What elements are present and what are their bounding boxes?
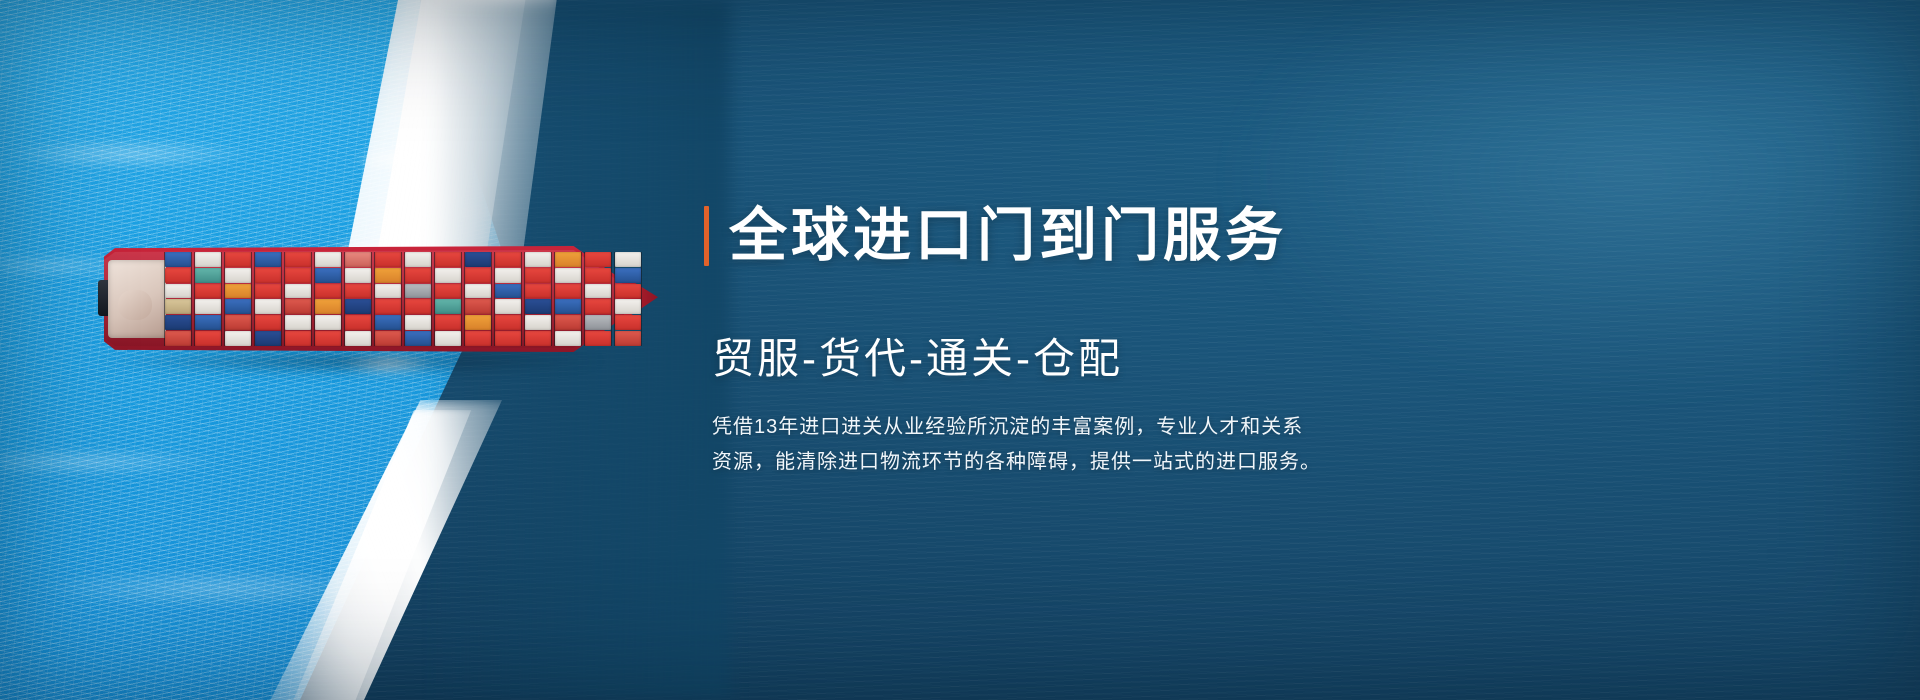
container-bay	[254, 252, 282, 346]
container	[525, 299, 551, 314]
ship-bridge-deck	[118, 290, 152, 320]
page-title: 全球进口门到门服务	[729, 207, 1287, 265]
container	[195, 299, 221, 314]
container	[495, 331, 521, 346]
container	[255, 331, 281, 346]
container	[285, 252, 311, 267]
container	[495, 268, 521, 283]
container-bay	[374, 252, 402, 346]
container-ship	[104, 246, 650, 352]
container	[375, 252, 401, 267]
container	[615, 299, 641, 314]
container	[225, 252, 251, 267]
container	[165, 315, 191, 330]
container	[315, 331, 341, 346]
container	[375, 315, 401, 330]
container	[315, 299, 341, 314]
container	[405, 284, 431, 299]
container	[255, 252, 281, 267]
container	[315, 252, 341, 267]
container	[405, 252, 431, 267]
container-stacks	[164, 252, 642, 346]
container	[225, 315, 251, 330]
container	[495, 284, 521, 299]
container	[465, 331, 491, 346]
container-bay	[344, 252, 372, 346]
container	[225, 268, 251, 283]
container-bay	[554, 252, 582, 346]
container-bay	[464, 252, 492, 346]
container	[555, 331, 581, 346]
accent-bar	[704, 206, 709, 266]
container	[465, 252, 491, 267]
container	[435, 331, 461, 346]
container	[225, 331, 251, 346]
hero-copy: 全球进口门到门服务 贸服-货代-通关-仓配 凭借13年进口进关从业经验所沉淀的丰…	[704, 168, 1444, 500]
container	[555, 299, 581, 314]
container	[405, 331, 431, 346]
container-bay	[614, 252, 642, 346]
container	[165, 284, 191, 299]
container	[615, 284, 641, 299]
container	[165, 331, 191, 346]
description: 凭借13年进口进关从业经验所沉淀的丰富案例，专业人才和关系 资源，能清除进口物流…	[712, 410, 1412, 480]
container	[285, 299, 311, 314]
container	[165, 268, 191, 283]
container	[195, 252, 221, 267]
container	[555, 252, 581, 267]
description-line-2: 资源，能清除进口物流环节的各种障碍，提供一站式的进口服务。	[712, 445, 1412, 480]
container-bay	[434, 252, 462, 346]
container	[585, 331, 611, 346]
container	[435, 315, 461, 330]
container	[345, 299, 371, 314]
container	[165, 299, 191, 314]
container	[345, 284, 371, 299]
container	[285, 268, 311, 283]
container	[225, 299, 251, 314]
container	[285, 284, 311, 299]
container	[195, 268, 221, 283]
container	[615, 268, 641, 283]
container	[525, 331, 551, 346]
container	[345, 268, 371, 283]
container	[405, 315, 431, 330]
container	[585, 252, 611, 267]
container	[195, 315, 221, 330]
container	[345, 252, 371, 267]
container	[255, 268, 281, 283]
container-bay	[404, 252, 432, 346]
container	[495, 315, 521, 330]
container-bay	[224, 252, 252, 346]
container	[255, 299, 281, 314]
container	[525, 315, 551, 330]
container	[525, 252, 551, 267]
container	[435, 284, 461, 299]
container-bay	[524, 252, 552, 346]
container	[615, 315, 641, 330]
container	[315, 268, 341, 283]
container	[555, 315, 581, 330]
container	[615, 252, 641, 267]
container	[225, 284, 251, 299]
container	[585, 268, 611, 283]
ship-bridge-superstructure	[108, 260, 166, 338]
container	[465, 299, 491, 314]
container	[525, 284, 551, 299]
container	[375, 284, 401, 299]
container	[405, 299, 431, 314]
container	[525, 268, 551, 283]
container-bay	[284, 252, 312, 346]
container-bay	[494, 252, 522, 346]
container	[255, 284, 281, 299]
container	[165, 252, 191, 267]
container	[555, 284, 581, 299]
container	[555, 268, 581, 283]
container	[465, 268, 491, 283]
container	[435, 268, 461, 283]
container	[285, 331, 311, 346]
container	[405, 268, 431, 283]
container	[255, 315, 281, 330]
container-bay	[584, 252, 612, 346]
container	[585, 315, 611, 330]
container	[585, 299, 611, 314]
container	[195, 284, 221, 299]
container-bay	[314, 252, 342, 346]
container-bay	[164, 252, 192, 346]
container	[435, 252, 461, 267]
container	[615, 331, 641, 346]
container	[585, 284, 611, 299]
description-line-1: 凭借13年进口进关从业经验所沉淀的丰富案例，专业人才和关系	[712, 410, 1412, 445]
container	[195, 331, 221, 346]
container	[375, 331, 401, 346]
container	[345, 315, 371, 330]
container	[315, 315, 341, 330]
subtitle: 贸服-货代-通关-仓配	[712, 338, 1444, 380]
container	[435, 299, 461, 314]
container	[495, 252, 521, 267]
container	[465, 315, 491, 330]
container	[465, 284, 491, 299]
container	[285, 315, 311, 330]
headline-row: 全球进口门到门服务	[704, 168, 1444, 304]
container-bay	[194, 252, 222, 346]
container	[375, 268, 401, 283]
container	[495, 299, 521, 314]
hero-banner: 全球进口门到门服务 贸服-货代-通关-仓配 凭借13年进口进关从业经验所沉淀的丰…	[0, 0, 1920, 700]
container	[345, 331, 371, 346]
container	[315, 284, 341, 299]
container	[375, 299, 401, 314]
